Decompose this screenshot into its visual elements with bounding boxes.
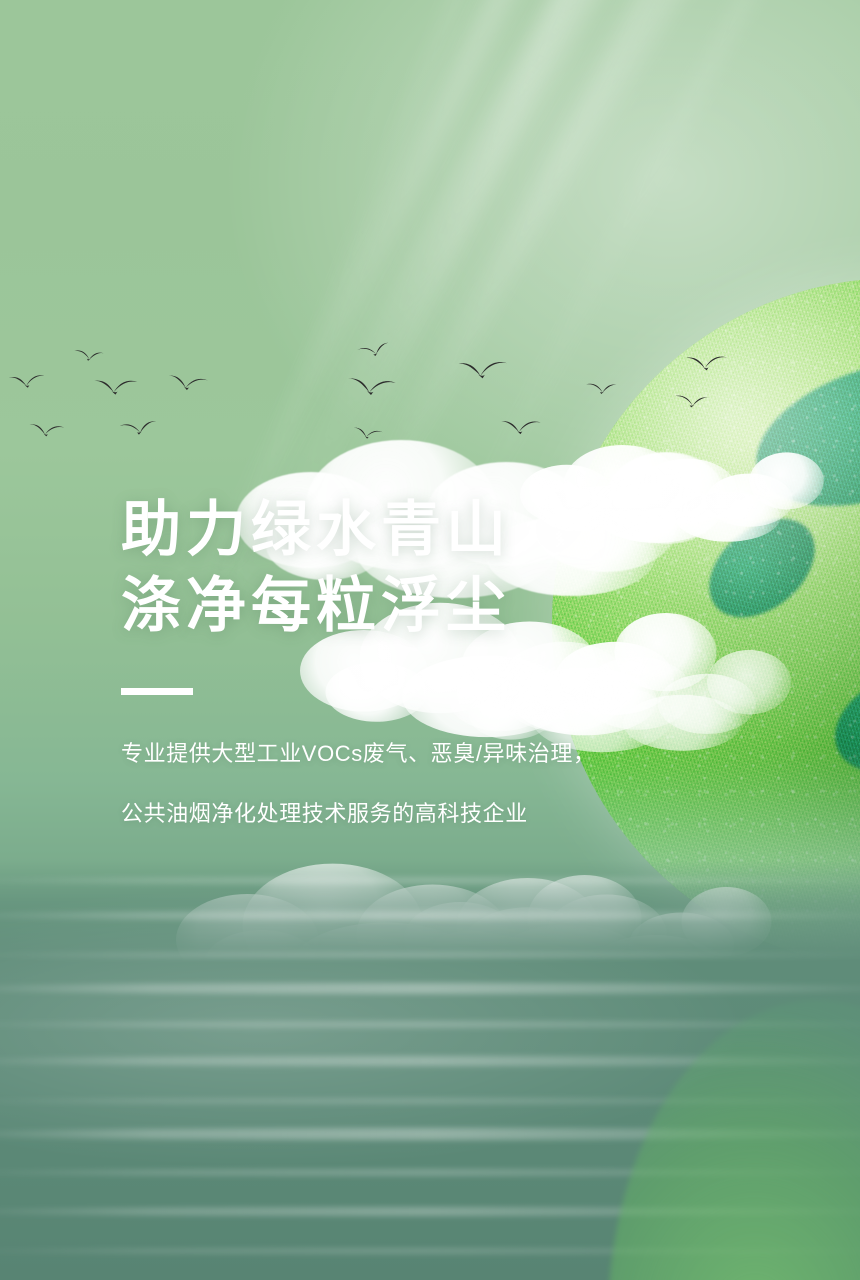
bird-icon <box>355 339 394 365</box>
subtitle-line-2: 公共油烟净化处理技术服务的高科技企业 <box>121 795 741 833</box>
bird-icon <box>683 350 731 379</box>
bird-icon <box>583 379 618 401</box>
bird-icon <box>455 354 511 390</box>
bird-icon <box>165 372 210 397</box>
headline-divider <box>121 688 193 695</box>
bird-icon <box>346 375 399 403</box>
poster-canvas: 助力绿水青山 涤净每粒浮尘 专业提供大型工业VOCs废气、恶臭/异味治理， 公共… <box>0 0 860 1280</box>
headline-line-2: 涤净每粒浮尘 <box>121 568 741 644</box>
bird-icon <box>671 390 711 416</box>
cloud-puff <box>749 452 823 509</box>
hero-text-block: 助力绿水青山 涤净每粒浮尘 专业提供大型工业VOCs废气、恶臭/异味治理， 公共… <box>121 492 741 855</box>
bird-icon <box>7 370 49 396</box>
birds-flock <box>0 330 470 470</box>
bird-icon <box>28 421 67 442</box>
subtitle-line-1: 专业提供大型工业VOCs废气、恶臭/异味治理， <box>121 735 741 773</box>
bird-icon <box>351 424 385 445</box>
bird-icon <box>91 365 141 413</box>
bird-icon <box>498 417 545 441</box>
bird-icon <box>71 346 105 368</box>
headline-line-1: 助力绿水青山 <box>121 492 741 568</box>
bird-icon <box>117 419 158 442</box>
